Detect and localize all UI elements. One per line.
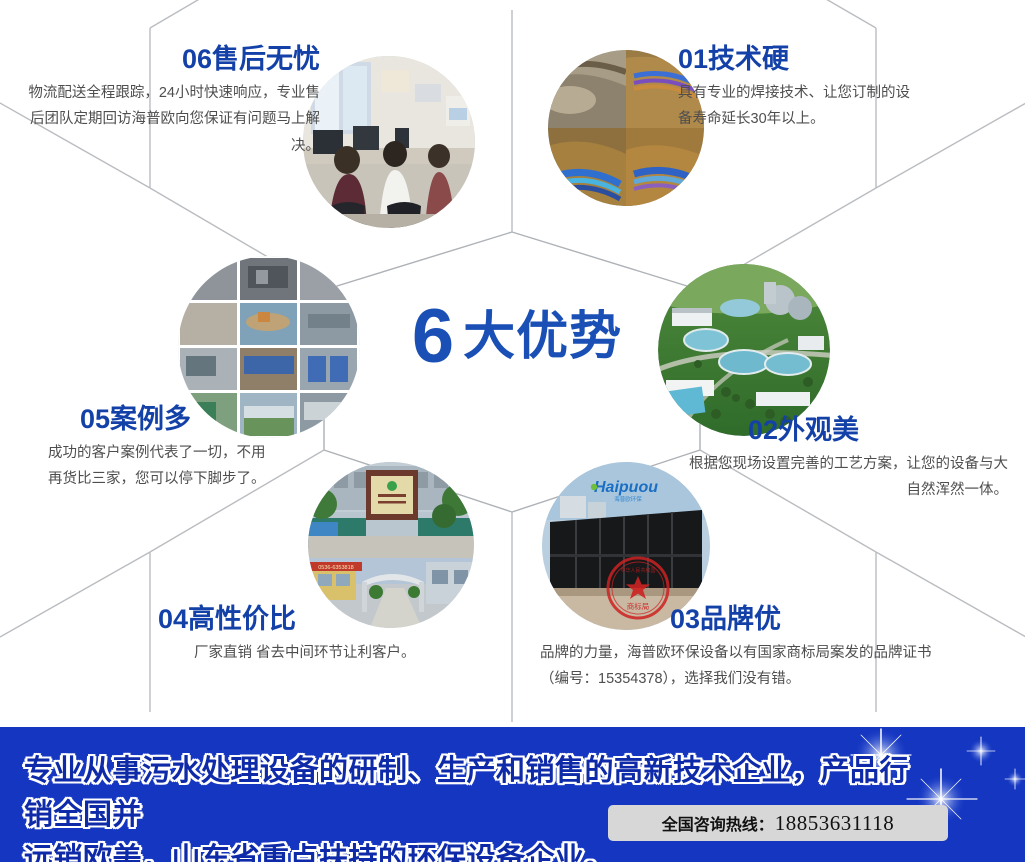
feature-01-title: 01技术硬 <box>678 44 978 75</box>
feature-03: 03品牌优 品牌的力量，海普欧环保设备以有国家商标局案发的品牌证书（编号：153… <box>540 604 960 693</box>
office-staff-photo <box>303 56 475 228</box>
feature-02: 02外观美 根据您现场设置完善的工艺方案，让您的设备与大自然浑然一体。 <box>688 415 1008 504</box>
feature-03-title: 03品牌优 <box>540 604 960 635</box>
feature-06: 06售后无忧 物流配送全程跟踪，24小时快速响应，专业售后团队定期回访海普欧向您… <box>20 44 320 159</box>
center-label-text: 大优势 <box>463 311 622 363</box>
sewage-plant-aerial-photo <box>658 264 830 436</box>
center-headline: 6 大优势 <box>352 292 682 382</box>
feature-05-title: 05案例多 <box>80 404 360 435</box>
feature-06-title: 06售后无忧 <box>20 44 320 75</box>
feature-05: 05案例多 成功的客户案例代表了一切，不用再货比三家，您可以停下脚步了。 <box>80 404 360 493</box>
center-number: 6 <box>412 299 453 375</box>
feature-02-body: 根据您现场设置完善的工艺方案，让您的设备与大自然浑然一体。 <box>688 451 1008 504</box>
feature-04-title: 04高性价比 <box>158 604 458 635</box>
bottom-banner: 专业从事污水处理设备的研制、生产和销售的高新技术企业，产品行销全国并 远销欧美，… <box>0 727 1025 862</box>
feature-02-title: 02外观美 <box>688 415 1008 446</box>
svg-text:海普欧环保: 海普欧环保 <box>614 495 642 503</box>
feature-06-body: 物流配送全程跟踪，24小时快速响应，专业售后团队定期回访海普欧向您保证有问题马上… <box>20 80 320 159</box>
feature-01: 01技术硬 具有专业的焊接技术、让您订制的设备寿命延长30年以上。 <box>678 44 978 133</box>
hotline-label: 全国咨询热线： <box>662 811 774 835</box>
svg-text:中华人民共和国: 中华人民共和国 <box>620 567 655 574</box>
hotline-box[interactable]: 全国咨询热线： 18853631118 <box>608 805 948 841</box>
hotline-number: 18853631118 <box>775 811 894 836</box>
svg-text:Haipuou: Haipuou <box>594 479 658 496</box>
feature-03-body: 品牌的力量，海普欧环保设备以有国家商标局案发的品牌证书（编号：15354378）… <box>540 640 960 693</box>
feature-05-body: 成功的客户案例代表了一切，不用再货比三家，您可以停下脚步了。 <box>48 440 270 493</box>
infographic-root: 6 大优势 <box>0 0 1025 862</box>
feature-04: 04高性价比 厂家直销 省去中间环节让利客户。 <box>158 604 458 666</box>
feature-01-body: 具有专业的焊接技术、让您订制的设备寿命延长30年以上。 <box>678 80 918 133</box>
feature-04-body: 厂家直销 省去中间环节让利客户。 <box>158 640 424 666</box>
svg-text:0536-6353818: 0536-6353818 <box>318 565 353 571</box>
